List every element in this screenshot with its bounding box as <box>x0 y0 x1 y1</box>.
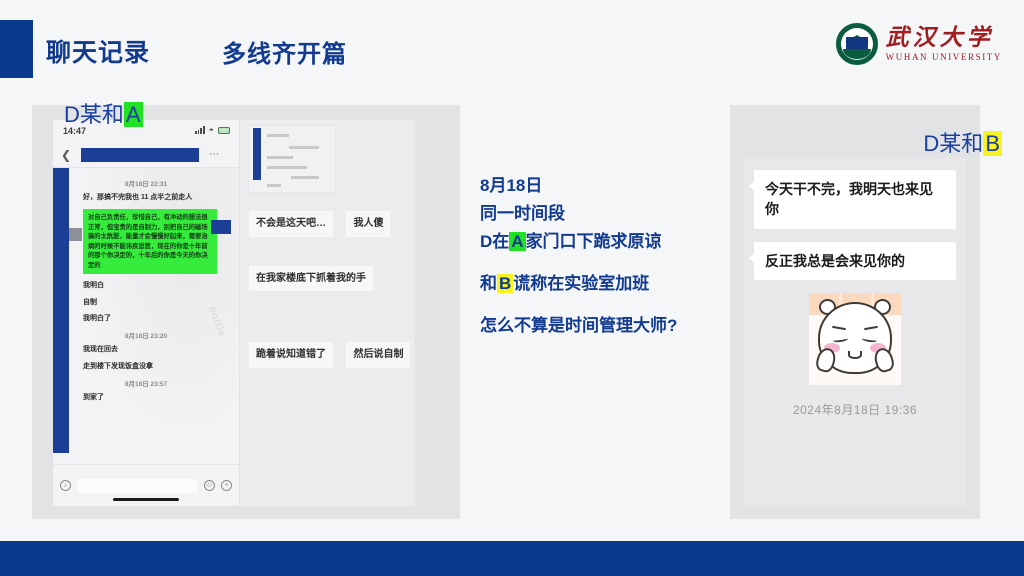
highlight-b: B <box>497 274 513 293</box>
commentary-line: 和B谎称在实验室加班 <box>480 270 715 298</box>
back-arrow-icon[interactable]: ❮ <box>61 148 71 162</box>
right-label-highlight: B <box>983 131 1002 156</box>
commentary-block-3: 怎么不算是时间管理大师? <box>480 312 715 340</box>
battery-icon <box>218 127 230 134</box>
left-label-highlight: A <box>124 102 143 127</box>
redacted-contact-name <box>81 148 199 162</box>
sticker-message <box>754 293 956 385</box>
phone-chat-screenshot: 14:47 ◓ ❮ ⋯ bottle 8月18日 22:31 好，那搞不完我也 … <box>53 120 239 506</box>
commentary-block-1: 8月18日 同一时间段 D在A家门口下跪求原谅 <box>480 172 715 256</box>
avatar <box>69 228 82 241</box>
chat-message: 不会是这天吧… <box>249 211 333 237</box>
logo-name-en: WUHAN UNIVERSITY <box>886 53 1002 62</box>
header-accent-block <box>0 20 33 78</box>
footer-bar <box>0 541 1024 576</box>
commentary-text: D在 <box>480 232 509 251</box>
commentary-line: 8月18日 <box>480 172 715 200</box>
chat-message: 走到楼下发现饭盒没拿 <box>83 362 231 371</box>
more-options-icon[interactable]: ⋯ <box>209 149 220 160</box>
highlight-a: A <box>509 232 525 251</box>
university-logo: 武汉大学 WUHAN UNIVERSITY <box>836 23 1002 65</box>
university-seal-icon <box>836 23 878 65</box>
home-indicator <box>113 498 179 501</box>
redacted-block <box>211 220 231 234</box>
commentary-text: 和 <box>480 274 497 293</box>
chat-message: 到家了 <box>83 393 231 402</box>
page-subtitle: 多线齐开篇 <box>222 34 347 69</box>
forwarded-screenshot-thumbnail[interactable] <box>248 125 336 193</box>
chat-message-highlighted: 对自己负责任，珍惜自己，有冲动的想法很正常，但宝贵的是自制力，别把自己的磁场搞的… <box>83 209 217 274</box>
commentary-line: 怎么不算是时间管理大师? <box>480 312 715 340</box>
chat-message: 好，那搞不完我也 11 点半之前走人 <box>83 193 231 202</box>
commentary-block-2: 和B谎称在实验室加班 <box>480 270 715 298</box>
page-title: 聊天记录 <box>46 33 150 69</box>
center-commentary: 8月18日 同一时间段 D在A家门口下跪求原谅 和B谎称在实验室加班 怎么不算是… <box>480 172 715 340</box>
message-timestamp: 8月18日 23:57 <box>61 378 231 388</box>
chat-message: 我现在回去 <box>83 345 231 354</box>
commentary-text: 谎称在实验室加班 <box>513 274 649 293</box>
chat-message: 自制 <box>83 298 231 307</box>
right-panel-label: D某和B <box>923 126 1002 158</box>
voice-icon[interactable]: ♪ <box>60 480 71 491</box>
chat-input-bar: ♪ ☺ + <box>53 464 239 506</box>
chat-message: 然后说自制 <box>346 342 410 368</box>
left-panel-label: D某和A <box>64 97 143 129</box>
add-attachment-icon[interactable]: + <box>221 480 232 491</box>
chat-message-list: bottle 8月18日 22:31 好，那搞不完我也 11 点半之前走人 对自… <box>53 168 239 484</box>
chat-message: 在我家楼底下抓着我的手 <box>249 266 373 292</box>
signal-icon <box>195 126 204 134</box>
commentary-text: 家门口下跪求原谅 <box>526 232 662 251</box>
right-chat-thread: 今天干不完，我明天也来见你 反正我总是会来见你的 2024年8月18日 19:3… <box>744 158 966 506</box>
commentary-line: D在A家门口下跪求原谅 <box>480 228 715 256</box>
chat-message: 我人傻 <box>346 211 390 237</box>
chat-message: 跪着说知道错了 <box>249 342 333 368</box>
crying-bear-sticker-icon <box>809 293 901 385</box>
right-label-prefix: D某和 <box>923 131 983 156</box>
chat-message: 反正我总是会来见你的 <box>754 242 956 280</box>
chat-nav-bar: ❮ ⋯ <box>53 142 239 168</box>
wifi-icon: ◓ <box>209 126 214 134</box>
left-panel-column-2: 不会是这天吧… 我人傻 在我家楼底下抓着我的手 跪着说知道错了 然后说自制 <box>240 120 415 506</box>
message-timestamp: 2024年8月18日 19:36 <box>754 401 956 418</box>
left-label-prefix: D某和 <box>64 102 124 127</box>
commentary-line: 同一时间段 <box>480 200 715 228</box>
chat-message: 我明白 <box>83 281 231 290</box>
chat-message: 今天干不完，我明天也来见你 <box>754 170 956 229</box>
message-timestamp: 8月18日 22:31 <box>61 178 231 188</box>
chat-input-field[interactable] <box>77 479 198 493</box>
logo-name-cn: 武汉大学 <box>886 26 1002 49</box>
message-timestamp: 8月18日 23:20 <box>61 330 231 340</box>
emoji-icon[interactable]: ☺ <box>204 480 215 491</box>
